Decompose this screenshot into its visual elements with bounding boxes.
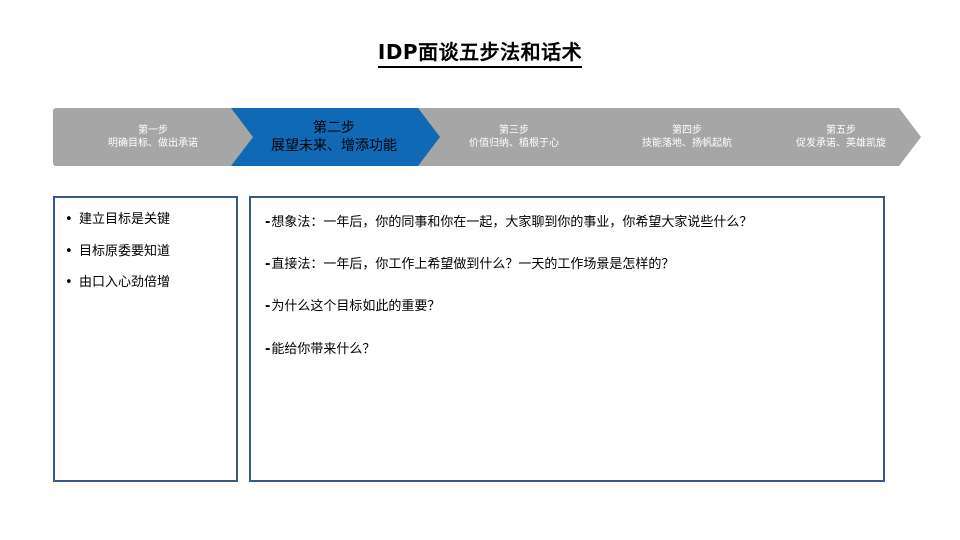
script-line: -为什么这个目标如此的重要？: [265, 298, 869, 316]
process-step-1[interactable]: 第一步 明确目标、做出承诺: [53, 108, 253, 166]
list-item: • 目标原委要知道: [65, 242, 226, 262]
script-line-text: 为什么这个目标如此的重要？: [271, 299, 440, 314]
process-step-4-number: 第四步: [672, 124, 702, 137]
process-step-1-number: 第一步: [138, 124, 168, 137]
bullet-icon: •: [65, 242, 79, 262]
process-step-5-description: 促发承诺、英雄凯旋: [796, 137, 886, 150]
process-step-2-active[interactable]: 第二步 展望未来、增添功能: [228, 108, 440, 166]
script-line-text: 能给你带来什么？: [271, 342, 375, 357]
dash-marker: -: [265, 342, 270, 357]
process-step-5-number: 第五步: [826, 124, 856, 137]
script-line: -直接法：一年后，你工作上希望做到什么？一天的工作场景是怎样的？: [265, 256, 869, 274]
page-title: IDP面谈五步法和话术: [0, 36, 960, 65]
script-line: -想象法：一年后，你的同事和你在一起，大家聊到你的事业，你希望大家说些什么？: [265, 214, 869, 232]
dash-marker: -: [265, 299, 270, 314]
script-line-text: 直接法：一年后，你工作上希望做到什么？一天的工作场景是怎样的？: [271, 257, 674, 272]
bullet-icon: •: [65, 273, 79, 293]
key-points-panel: • 建立目标是关键 • 目标原委要知道 • 由口入心劲倍增: [53, 196, 238, 482]
list-item-label: 建立目标是关键: [79, 210, 170, 230]
process-step-4[interactable]: 第四步 技能落地、扬帆起航: [588, 108, 786, 166]
process-step-4-description: 技能落地、扬帆起航: [642, 137, 732, 150]
list-item: • 由口入心劲倍增: [65, 273, 226, 293]
process-step-2-description: 展望未来、增添功能: [271, 137, 397, 155]
list-item: • 建立目标是关键: [65, 210, 226, 230]
process-step-1-description: 明确目标、做出承诺: [108, 137, 198, 150]
process-step-3-description: 价值归纳、植根于心: [469, 137, 559, 150]
page-title-text: IDP面谈五步法和话术: [378, 40, 582, 68]
process-step-3-number: 第三步: [499, 124, 529, 137]
script-line-text: 想象法：一年后，你的同事和你在一起，大家聊到你的事业，你希望大家说些什么？: [271, 215, 752, 230]
dash-marker: -: [265, 257, 270, 272]
dash-marker: -: [265, 215, 270, 230]
process-steps-bar: 第一步 明确目标、做出承诺 第二步 展望未来、增添功能 第三步 价值归纳、植根于…: [53, 108, 921, 166]
script-line: -能给你带来什么？: [265, 341, 869, 359]
process-step-2-number: 第二步: [313, 119, 355, 137]
list-item-label: 由口入心劲倍增: [79, 273, 170, 293]
bullet-icon: •: [65, 210, 79, 230]
process-step-3[interactable]: 第三步 价值归纳、植根于心: [415, 108, 613, 166]
list-item-label: 目标原委要知道: [79, 242, 170, 262]
script-questions-panel: -想象法：一年后，你的同事和你在一起，大家聊到你的事业，你希望大家说些什么？ -…: [249, 196, 885, 482]
